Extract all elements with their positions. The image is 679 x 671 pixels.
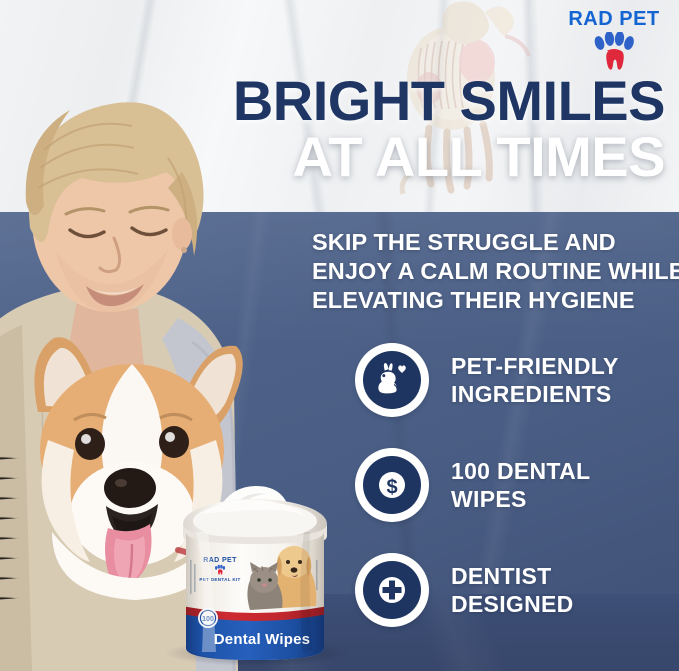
subheadline: SKIP THE STRUGGLE AND ENJOY A CALM ROUTI… — [312, 228, 662, 315]
feature-dentist-designed: DENTIST DESIGNED — [355, 550, 670, 630]
medical-cross-icon — [363, 561, 421, 619]
feature-label-2-line-2: WIPES — [451, 485, 590, 513]
product-marketing-image: RAD PET BRIGHT SMILES AT ALL TIMES SKIP … — [0, 0, 679, 671]
headline-line-2: AT ALL TIMES — [120, 128, 665, 186]
headline-line-1: BRIGHT SMILES — [120, 74, 665, 128]
paw-tooth-icon — [591, 32, 637, 70]
dollar-coin-icon: $ — [363, 456, 421, 514]
svg-text:$: $ — [386, 477, 397, 499]
feature-icon-ring-2: $ — [355, 448, 429, 522]
feature-label-3-line-1: DENTIST — [451, 562, 574, 590]
feature-label-1: PET-FRIENDLY INGREDIENTS — [451, 352, 619, 408]
brand-name: RAD PET — [560, 8, 668, 30]
feature-label-2: 100 DENTAL WIPES — [451, 457, 590, 513]
subheadline-line-1: SKIP THE STRUGGLE AND — [312, 228, 662, 257]
feature-pet-friendly-ingredients: PET-FRIENDLY INGREDIENTS — [355, 340, 670, 420]
subheadline-line-3: ELEVATING THEIR HYGIENE — [312, 286, 662, 315]
feature-100-dental-wipes: $ 100 DENTAL WIPES — [355, 445, 670, 525]
feature-label-3: DENTIST DESIGNED — [451, 562, 574, 618]
feature-label-1-line-2: INGREDIENTS — [451, 380, 619, 408]
brand-logo: RAD PET — [560, 8, 668, 74]
feature-label-3-line-2: DESIGNED — [451, 590, 574, 618]
svg-text:Dental Wipes: Dental Wipes — [214, 631, 310, 648]
feature-icon-ring-3 — [355, 553, 429, 627]
subheadline-line-2: ENJOY A CALM ROUTINE WHILE — [312, 257, 662, 286]
product-tub: RAD PET PET DENTAL KIT 100 Dental Wipes — [176, 484, 334, 671]
headline: BRIGHT SMILES AT ALL TIMES — [120, 74, 665, 186]
feature-label-1-line-1: PET-FRIENDLY — [451, 352, 619, 380]
feature-icon-ring-1 — [355, 343, 429, 417]
rabbit-heart-icon — [363, 351, 421, 409]
feature-label-2-line-1: 100 DENTAL — [451, 457, 590, 485]
